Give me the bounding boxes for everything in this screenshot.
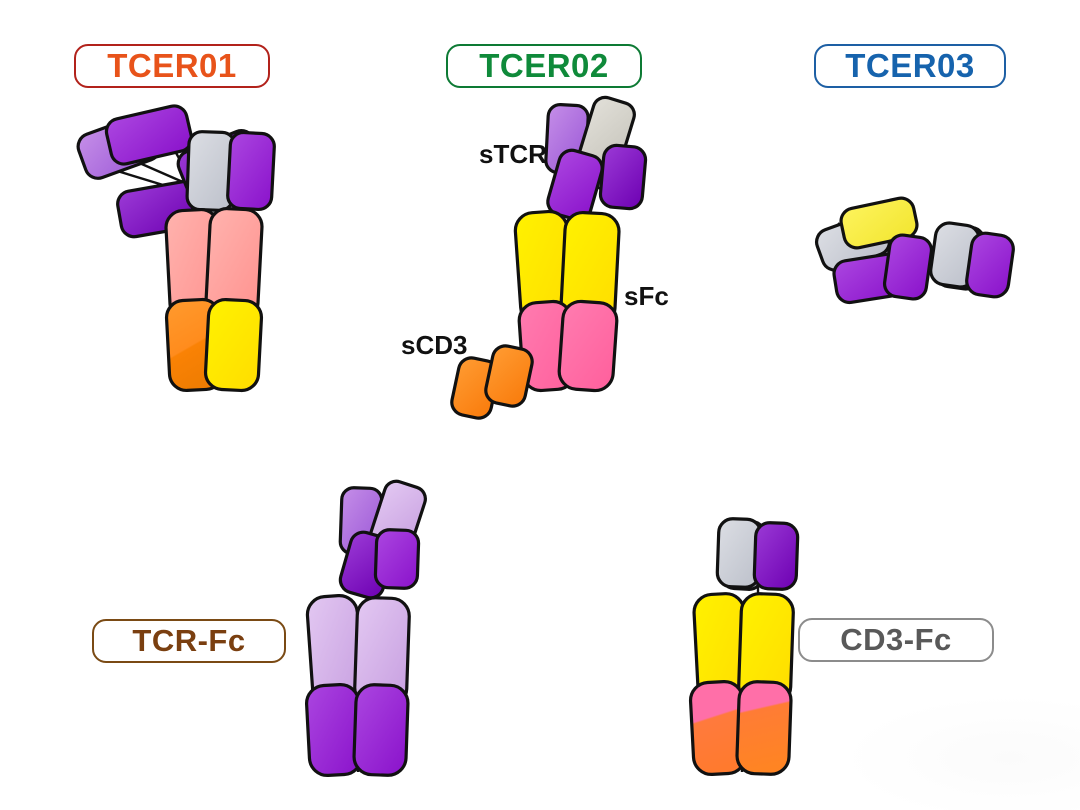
cd3fc-scd3-heavy xyxy=(754,522,798,589)
tcer02-scd3-domain-2 xyxy=(483,343,534,408)
tcer03-scd3-heavy xyxy=(965,231,1015,298)
tcrfc-stcr-c-beta xyxy=(375,529,419,588)
annotation-stcr: sTCR xyxy=(479,139,547,170)
label-cd3-fc[interactable]: CD3-Fc xyxy=(798,618,994,662)
molecule-diagram xyxy=(0,0,1080,810)
tcer01-fc-ch3-right xyxy=(205,299,263,392)
label-tcr-fc[interactable]: TCR-Fc xyxy=(92,619,286,663)
tcer03-stcr-c-beta xyxy=(883,233,933,300)
cd3fc-fc-ch3-right xyxy=(736,681,791,775)
annotation-scd3: sCD3 xyxy=(401,330,467,361)
tcer02-stcr-c-beta xyxy=(599,144,646,209)
tcer01-scd3-heavy xyxy=(227,132,275,210)
label-tcer02[interactable]: TCER02 xyxy=(446,44,642,88)
construct-tcr-fc[interactable] xyxy=(306,478,429,776)
construct-cd3-fc[interactable] xyxy=(690,518,799,775)
construct-tcer01[interactable] xyxy=(74,103,274,391)
label-tcer03[interactable]: TCER03 xyxy=(814,44,1006,88)
label-tcer01[interactable]: TCER01 xyxy=(74,44,270,88)
tcer02-fc-ch3-right xyxy=(558,300,618,392)
tcrfc-fc-ch3-right xyxy=(353,684,408,776)
annotation-sfc: sFc xyxy=(624,281,669,312)
construct-tcer03[interactable] xyxy=(813,196,1015,305)
